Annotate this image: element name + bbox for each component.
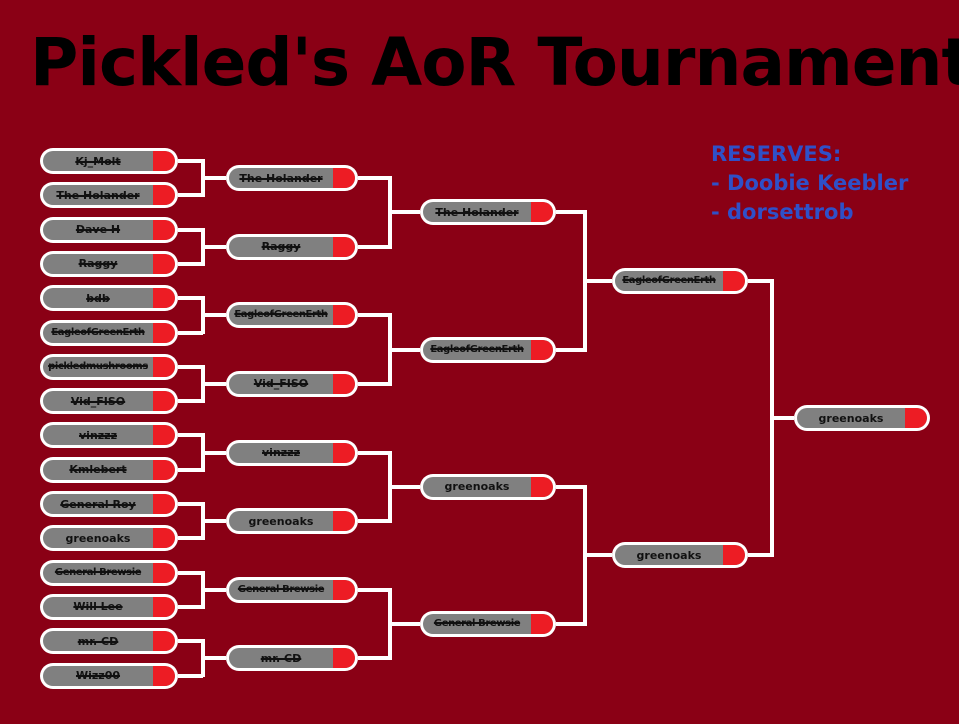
slot-player-name: EagleofGreenErth <box>234 310 349 320</box>
reserve-item-1: - Doobie Keebler <box>711 169 908 198</box>
bracket-slot-body: EagleofGreenErth <box>423 340 553 360</box>
connector-h-out <box>358 176 390 180</box>
connector-h-out <box>358 588 390 592</box>
slot-accent-cap <box>153 597 175 617</box>
connector-h-in <box>201 313 226 317</box>
bracket-slot[interactable]: Raggy <box>40 251 178 277</box>
bracket-slot[interactable]: bdb <box>40 285 178 311</box>
bracket-slot-body: The Holander <box>423 202 553 222</box>
bracket-slot-body: Raggy <box>229 237 355 257</box>
slot-accent-cap <box>153 288 175 308</box>
connector-h-out <box>178 571 203 575</box>
bracket-slot[interactable]: greenoaks <box>420 474 556 500</box>
connector-h-out <box>556 622 585 626</box>
slot-player-name: The Holander <box>435 207 540 218</box>
bracket-slot[interactable]: mr. CD <box>226 645 358 671</box>
connector-h-out <box>178 502 203 506</box>
bracket-slot[interactable]: vinzzz <box>226 440 358 466</box>
bracket-slot[interactable]: Kmlebert <box>40 457 178 483</box>
bracket-slot-body: The Holander <box>43 185 175 205</box>
bracket-slot-body: mr. CD <box>229 648 355 668</box>
bracket-slot[interactable]: General Brewsie <box>420 611 556 637</box>
slot-player-name: greenoaks <box>445 481 532 492</box>
bracket-slot-body: Will Lee <box>43 597 175 617</box>
connector-h-in <box>201 656 226 660</box>
bracket-slot-body: greenoaks <box>423 477 553 497</box>
slot-accent-cap <box>153 425 175 445</box>
connector-h-in <box>583 553 612 557</box>
connector-h-in <box>388 622 420 626</box>
slot-player-name: greenoaks <box>637 550 724 561</box>
slot-accent-cap <box>333 648 355 668</box>
bracket-slot[interactable]: General Roy <box>40 491 178 517</box>
slot-accent-cap <box>333 237 355 257</box>
bracket-slot-body: General Brewsie <box>229 580 355 600</box>
bracket-slot[interactable]: EagleofGreenErth <box>612 268 748 294</box>
bracket-slot-body: vinzzz <box>43 425 175 445</box>
page-title: Pickled's AoR Tournament! <box>30 22 935 104</box>
bracket-slot-body: bdb <box>43 288 175 308</box>
slot-player-name: vinzzz <box>262 447 322 458</box>
connector-h-out <box>178 228 203 232</box>
tournament-bracket-page: Pickled's AoR Tournament! RESERVES: - Do… <box>0 0 959 724</box>
bracket-slot[interactable]: The Holander <box>40 182 178 208</box>
reserves-block: RESERVES: - Doobie Keebler - dorsettrob <box>711 140 908 227</box>
bracket-slot[interactable]: Wizz00 <box>40 663 178 689</box>
slot-accent-cap <box>723 545 745 565</box>
bracket-slot-body: Kj_Molt <box>43 151 175 171</box>
slot-player-name: greenoaks <box>66 533 153 544</box>
slot-player-name: Kj_Molt <box>75 156 142 167</box>
bracket-slot[interactable]: EagleofGreenErth <box>420 337 556 363</box>
connector-h-in <box>201 176 226 180</box>
bracket-slot-body: Dave H <box>43 220 175 240</box>
slot-player-name: Raggy <box>262 241 323 252</box>
slot-accent-cap <box>153 460 175 480</box>
connector-h-in <box>201 245 226 249</box>
slot-accent-cap <box>905 408 927 428</box>
bracket-slot-body: EagleofGreenErth <box>615 271 745 291</box>
connector-h-in <box>770 416 794 420</box>
connector-h-out <box>556 210 585 214</box>
bracket-slot-body: greenoaks <box>229 511 355 531</box>
connector-h-in <box>388 348 420 352</box>
connector-h-in <box>388 210 420 214</box>
bracket-slot[interactable]: General Brewsie <box>40 560 178 586</box>
bracket-slot-body: The Holander <box>229 168 355 188</box>
connector-h-out <box>748 279 772 283</box>
connector-h-in <box>201 451 226 455</box>
slot-player-name: greenoaks <box>249 516 336 527</box>
reserves-heading: RESERVES: <box>711 140 908 169</box>
bracket-slot[interactable]: General Brewsie <box>226 577 358 603</box>
bracket-slot-body: Raggy <box>43 254 175 274</box>
bracket-slot[interactable]: EagleofGreenErth <box>40 320 178 346</box>
slot-player-name: EagleofGreenErth <box>51 328 166 338</box>
slot-accent-cap <box>153 220 175 240</box>
connector-h-in <box>201 382 226 386</box>
connector-h-out <box>358 382 390 386</box>
bracket-slot[interactable]: pickledmushrooms <box>40 354 178 380</box>
bracket-slot-body: EagleofGreenErth <box>229 305 355 325</box>
bracket-slot-body: General Brewsie <box>423 614 553 634</box>
bracket-slot-body: greenoaks <box>43 528 175 548</box>
bracket-slot[interactable]: mr. CD <box>40 628 178 654</box>
bracket-slot-body: Vid_FISO <box>43 391 175 411</box>
bracket-slot[interactable]: Raggy <box>226 234 358 260</box>
slot-player-name: vinzzz <box>79 430 139 441</box>
bracket-slot[interactable]: greenoaks <box>794 405 930 431</box>
reserve-item-2: - dorsettrob <box>711 198 908 227</box>
connector-h-out <box>178 468 203 472</box>
bracket-slot[interactable]: EagleofGreenErth <box>226 302 358 328</box>
slot-player-name: EagleofGreenErth <box>430 345 545 355</box>
bracket-slot-body: General Brewsie <box>43 563 175 583</box>
slot-accent-cap <box>333 511 355 531</box>
connector-h-out <box>556 348 585 352</box>
slot-player-name: Kmlebert <box>69 464 148 475</box>
bracket-slot[interactable]: greenoaks <box>612 542 748 568</box>
bracket-slot-body: greenoaks <box>615 545 745 565</box>
slot-player-name: General Roy <box>60 499 157 510</box>
slot-player-name: greenoaks <box>819 413 906 424</box>
slot-accent-cap <box>153 528 175 548</box>
bracket-slot[interactable]: Vid_FISO <box>40 388 178 414</box>
connector-h-out <box>178 399 203 403</box>
bracket-slot-body: vinzzz <box>229 443 355 463</box>
connector-h-out <box>178 365 203 369</box>
slot-player-name: Will Lee <box>73 601 144 612</box>
connector-h-in <box>388 485 420 489</box>
connector-h-out <box>178 331 203 335</box>
connector-h-out <box>358 519 390 523</box>
bracket-slot-body: General Roy <box>43 494 175 514</box>
slot-player-name: Vid_FISO <box>71 396 147 407</box>
slot-player-name: bdb <box>86 293 132 304</box>
bracket-slot[interactable]: The Holander <box>226 165 358 191</box>
bracket-slot-body: Wizz00 <box>43 666 175 686</box>
slot-player-name: Wizz00 <box>76 670 142 681</box>
bracket-slot[interactable]: vinzzz <box>40 422 178 448</box>
slot-player-name: mr. CD <box>261 653 324 664</box>
connector-h-out <box>358 245 390 249</box>
slot-player-name: Raggy <box>79 258 140 269</box>
slot-accent-cap <box>153 666 175 686</box>
bracket-slot-body: Vid_FISO <box>229 374 355 394</box>
bracket-slot[interactable]: Will Lee <box>40 594 178 620</box>
connector-h-in <box>201 519 226 523</box>
slot-player-name: The Holander <box>56 190 161 201</box>
slot-accent-cap <box>153 391 175 411</box>
slot-player-name: EagleofGreenErth <box>622 276 737 286</box>
bracket-slot-body: mr. CD <box>43 631 175 651</box>
connector-h-out <box>178 296 203 300</box>
slot-player-name: Dave H <box>76 224 142 235</box>
slot-accent-cap <box>333 443 355 463</box>
connector-h-out <box>178 536 203 540</box>
slot-player-name: General Brewsie <box>238 585 346 595</box>
slot-player-name: General Brewsie <box>55 568 163 578</box>
slot-accent-cap <box>153 254 175 274</box>
bracket-slot[interactable]: Kj_Molt <box>40 148 178 174</box>
connector-h-out <box>178 639 203 643</box>
slot-player-name: General Brewsie <box>434 619 542 629</box>
slot-accent-cap <box>153 151 175 171</box>
slot-accent-cap <box>531 477 553 497</box>
connector-h-out <box>178 262 203 266</box>
bracket-slot-body: EagleofGreenErth <box>43 323 175 343</box>
connector-h-in <box>583 279 612 283</box>
connector-h-out <box>178 159 203 163</box>
connector-h-out <box>358 451 390 455</box>
connector-h-out <box>748 553 772 557</box>
slot-accent-cap <box>333 374 355 394</box>
bracket-slot-body: Kmlebert <box>43 460 175 480</box>
connector-h-out <box>358 313 390 317</box>
slot-player-name: The Holander <box>239 173 344 184</box>
slot-accent-cap <box>153 631 175 651</box>
bracket-slot[interactable]: greenoaks <box>226 508 358 534</box>
slot-player-name: pickledmushrooms <box>48 362 170 372</box>
slot-player-name: mr. CD <box>78 636 141 647</box>
connector-h-in <box>201 588 226 592</box>
bracket-slot[interactable]: Vid_FISO <box>226 371 358 397</box>
connector-h-out <box>556 485 585 489</box>
bracket-slot-body: pickledmushrooms <box>43 357 175 377</box>
connector-h-out <box>178 433 203 437</box>
bracket-slot-body: greenoaks <box>797 408 927 428</box>
slot-player-name: Vid_FISO <box>254 378 330 389</box>
connector-h-out <box>178 605 203 609</box>
connector-h-out <box>178 674 203 678</box>
bracket-slot[interactable]: greenoaks <box>40 525 178 551</box>
connector-h-out <box>178 193 203 197</box>
bracket-slot[interactable]: Dave H <box>40 217 178 243</box>
bracket-slot[interactable]: The Holander <box>420 199 556 225</box>
connector-h-out <box>358 656 390 660</box>
